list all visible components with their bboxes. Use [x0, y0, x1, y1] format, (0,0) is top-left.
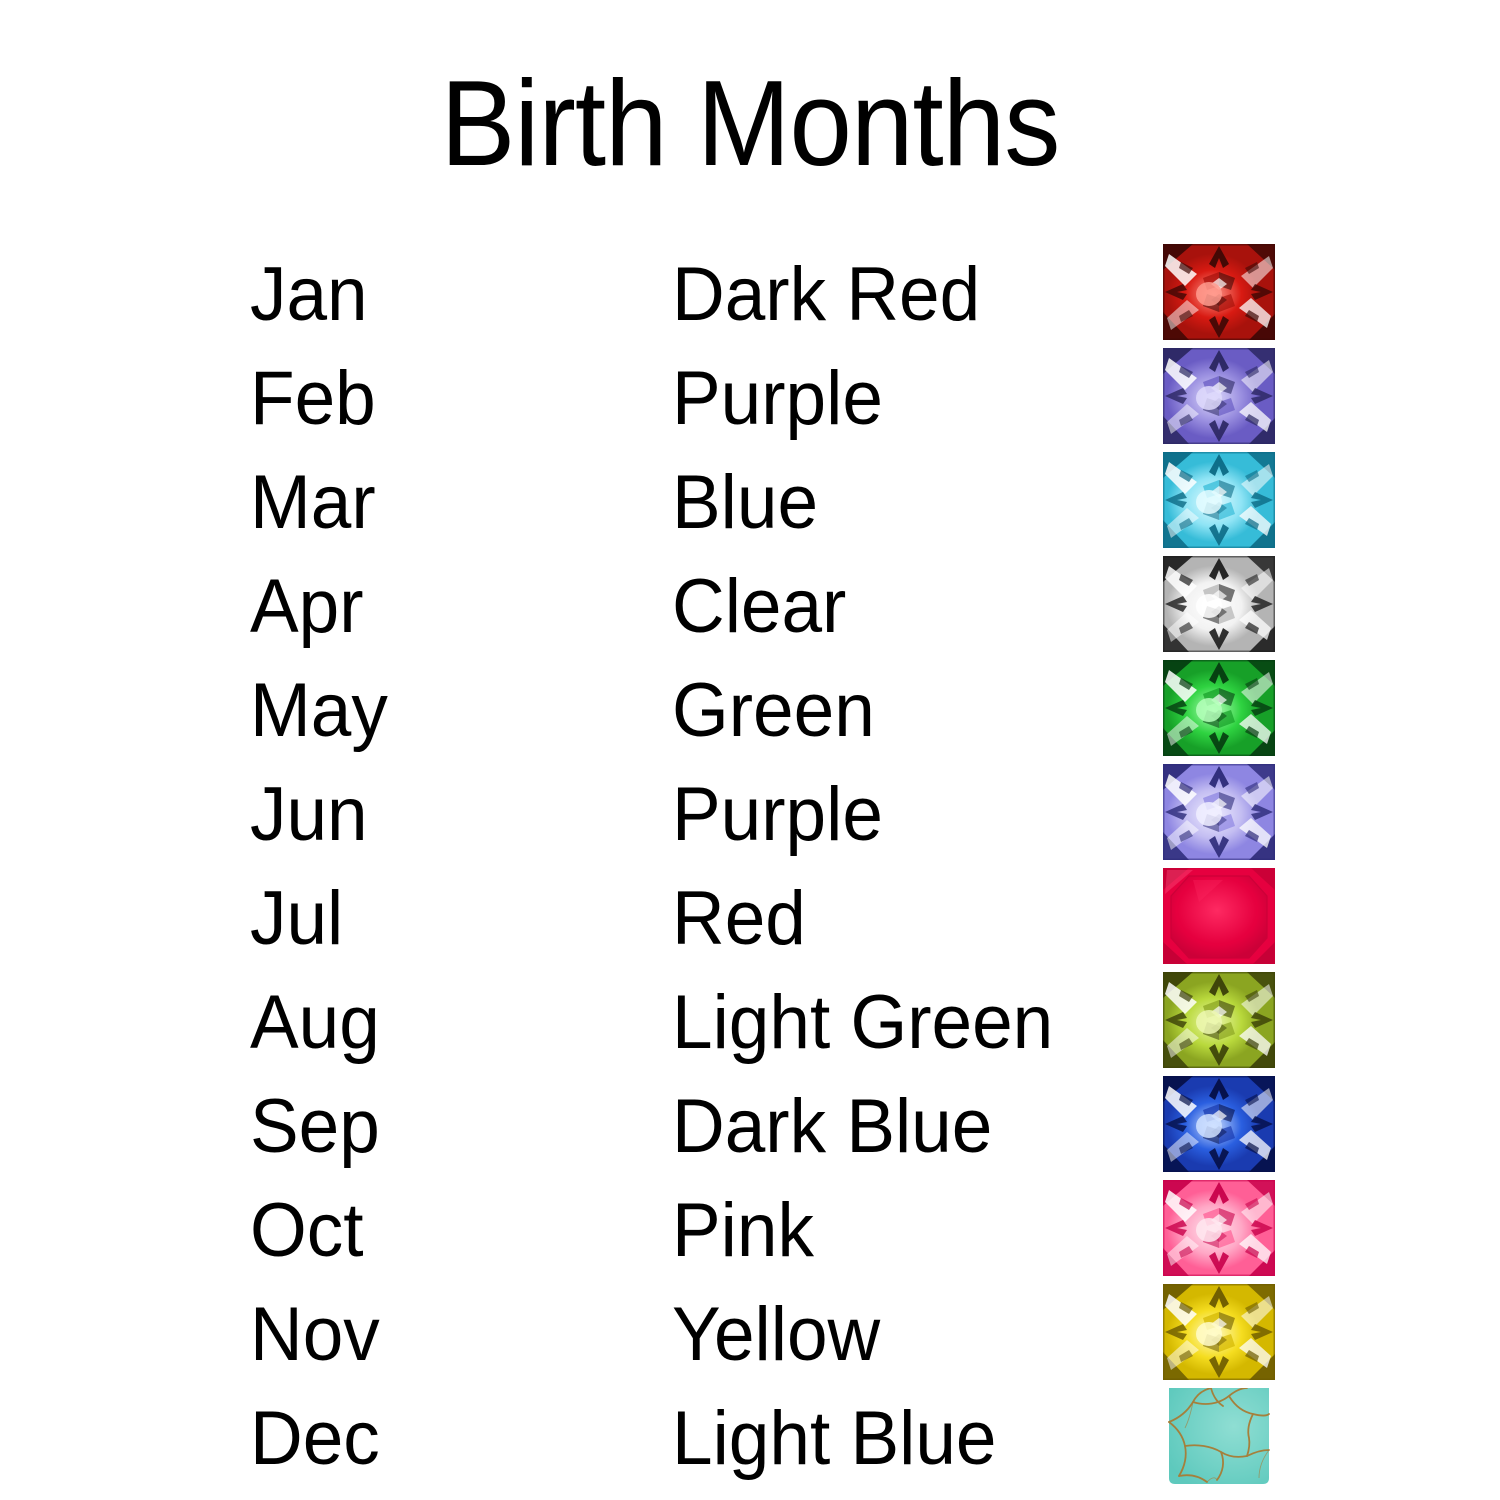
amethyst-gem	[1163, 348, 1275, 444]
emerald-gem	[1163, 660, 1275, 756]
table-row: SepDark Blue	[0, 1075, 1500, 1179]
turquoise-gem	[1163, 1388, 1275, 1484]
color-label: Pink	[672, 1179, 814, 1283]
sapphire-gem	[1163, 1076, 1275, 1172]
color-label: Clear	[672, 555, 846, 659]
color-label: Red	[672, 867, 806, 971]
table-row: AprClear	[0, 555, 1500, 659]
color-label: Light Blue	[672, 1387, 997, 1491]
aquamarine-gem	[1163, 452, 1275, 548]
table-row: FebPurple	[0, 347, 1500, 451]
month-label: Nov	[250, 1283, 380, 1387]
citrine-gem	[1163, 1284, 1275, 1380]
month-label: Aug	[250, 971, 380, 1075]
color-label: Dark Blue	[672, 1075, 992, 1179]
color-label: Light Green	[672, 971, 1053, 1075]
month-label: Feb	[250, 347, 376, 451]
peridot-gem	[1163, 972, 1275, 1068]
alexandrite-gem	[1163, 764, 1275, 860]
color-label: Yellow	[672, 1283, 880, 1387]
color-label: Blue	[672, 451, 818, 555]
ruby-gem	[1163, 868, 1275, 964]
color-label: Green	[672, 659, 875, 763]
table-row: MayGreen	[0, 659, 1500, 763]
month-label: Oct	[250, 1179, 364, 1283]
month-label: Apr	[250, 555, 364, 659]
month-label: May	[250, 659, 388, 763]
table-row: DecLight Blue	[0, 1387, 1500, 1491]
table-row: NovYellow	[0, 1283, 1500, 1387]
table-row: JulRed	[0, 867, 1500, 971]
month-label: Jun	[250, 763, 368, 867]
table-row: OctPink	[0, 1179, 1500, 1283]
garnet-gem	[1163, 244, 1275, 340]
birth-months-page: Birth Months JanDark Red FebPurpl	[0, 0, 1500, 1500]
month-label: Jan	[250, 243, 368, 347]
diamond-gem	[1163, 556, 1275, 652]
page-title: Birth Months	[60, 62, 1440, 184]
birth-months-table: JanDark Red FebPurple	[0, 243, 1500, 1491]
table-row: JanDark Red	[0, 243, 1500, 347]
month-label: Mar	[250, 451, 376, 555]
color-label: Purple	[672, 347, 883, 451]
color-label: Purple	[672, 763, 883, 867]
month-label: Dec	[250, 1387, 380, 1491]
table-row: AugLight Green	[0, 971, 1500, 1075]
table-row: JunPurple	[0, 763, 1500, 867]
month-label: Sep	[250, 1075, 380, 1179]
month-label: Jul	[250, 867, 343, 971]
tourmaline-gem	[1163, 1180, 1275, 1276]
table-row: MarBlue	[0, 451, 1500, 555]
color-label: Dark Red	[672, 243, 980, 347]
